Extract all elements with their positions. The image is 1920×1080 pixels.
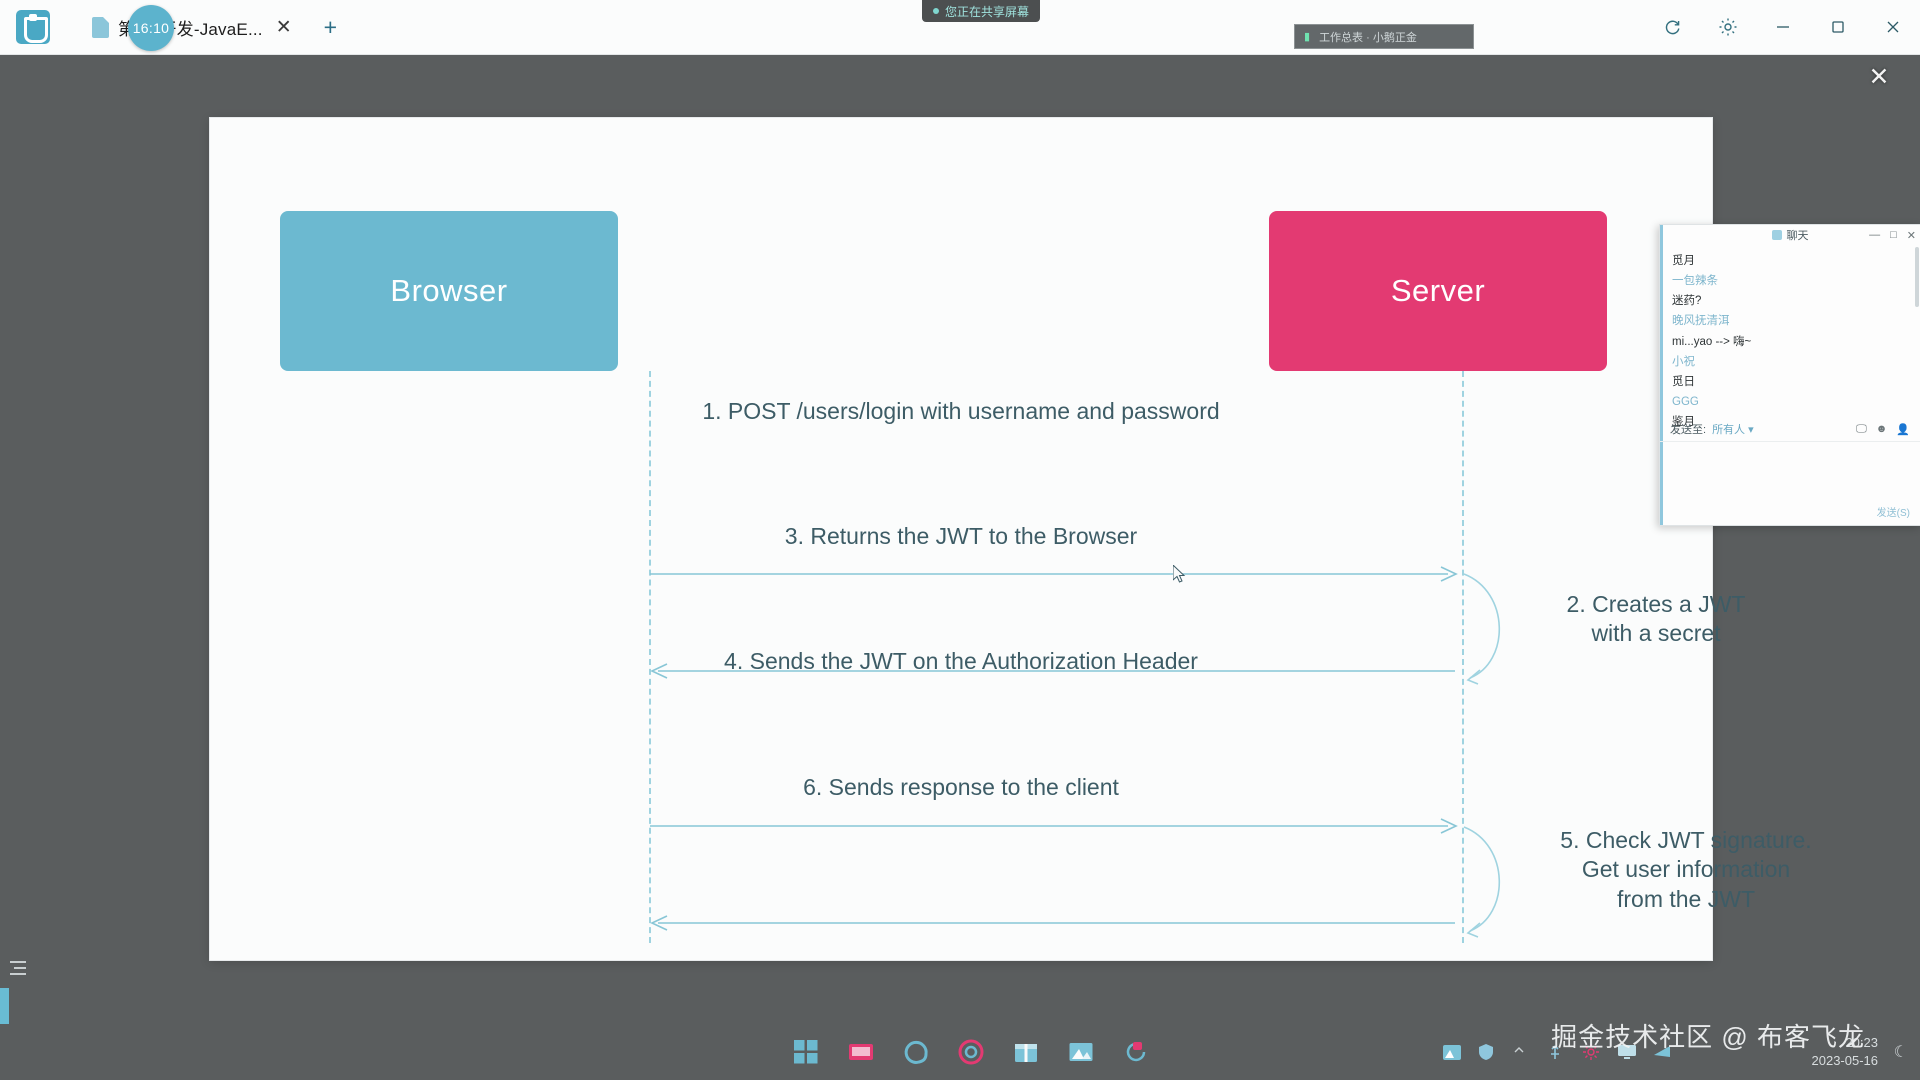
chat-message-list: 觅月 一包辣条 迷药? 晚风抚清洱 mi...yao --> 嗨~ 小祝 觅日 … bbox=[1660, 245, 1920, 432]
clock-time: 20:23 bbox=[1812, 1034, 1879, 1052]
message-arrow-4 bbox=[650, 818, 1463, 834]
chat-send-button[interactable]: 发送(S) bbox=[1877, 504, 1910, 519]
tab-close-icon[interactable]: ✕ bbox=[276, 18, 292, 37]
gear-icon[interactable] bbox=[1700, 0, 1755, 55]
node-label-server: Server bbox=[1391, 273, 1485, 309]
maximize-button[interactable] bbox=[1810, 0, 1865, 55]
self-call-arc-2 bbox=[1462, 570, 1542, 688]
sequence-node-server: Server bbox=[1269, 211, 1607, 371]
hover-tooltip: ▮ 工作总表 · 小鹅正金 bbox=[1294, 24, 1474, 49]
send-to-dropdown[interactable]: 所有人 ▾ bbox=[1712, 421, 1754, 437]
chat-window-controls: — □ ✕ bbox=[1869, 225, 1916, 245]
security-icon[interactable] bbox=[1477, 1043, 1495, 1061]
refresh-icon[interactable] bbox=[1645, 0, 1700, 55]
shared-slide-canvas: Browser Server 1. POST /users/login with… bbox=[210, 118, 1712, 960]
close-button[interactable] bbox=[1865, 0, 1920, 55]
taskbar-clock[interactable]: 20:23 2023-05-16 bbox=[1812, 1034, 1879, 1069]
chat-window[interactable]: 聊天 — □ ✕ 觅月 一包辣条 迷药? 晚风抚清洱 mi...yao --> … bbox=[1659, 224, 1920, 526]
screen-sharing-banner: 您正在共享屏幕 bbox=[922, 0, 1040, 22]
taskbar-tray bbox=[1442, 1043, 1670, 1061]
self-note-5: 5. Check JWT signature. Get user informa… bbox=[1536, 826, 1836, 914]
chat-send-to-row: 发送至: 所有人 ▾ 🖵 ☻ 👤 bbox=[1660, 421, 1920, 437]
screen: 第40 开发-JavaE... ✕ + bbox=[0, 0, 1920, 1080]
photos-icon[interactable] bbox=[1068, 1039, 1094, 1065]
settings-icon[interactable] bbox=[1582, 1043, 1600, 1061]
chat-title-bar: 聊天 — □ ✕ bbox=[1660, 225, 1920, 245]
chat-minimize-button[interactable]: — bbox=[1869, 229, 1880, 241]
sequence-node-browser: Browser bbox=[280, 211, 618, 371]
mouse-cursor-icon bbox=[1173, 565, 1187, 585]
self-note-5-line-3: from the JWT bbox=[1536, 885, 1836, 914]
send-to-label: 发送至: bbox=[1670, 421, 1706, 437]
taskbar-apps bbox=[793, 1039, 1149, 1065]
meeting-timer-badge[interactable]: 16:10 bbox=[128, 5, 174, 51]
store-icon[interactable] bbox=[1013, 1039, 1039, 1065]
message-label-6: 6. Sends response to the client bbox=[210, 774, 1712, 801]
chat-message: 晚风抚清洱 bbox=[1672, 311, 1908, 331]
edge-icon[interactable] bbox=[903, 1039, 929, 1065]
self-note-5-line-1: 5. Check JWT signature. bbox=[1536, 826, 1836, 855]
message-label-3: 3. Returns the JWT to the Browser bbox=[210, 523, 1712, 550]
floating-close-icon[interactable]: ✕ bbox=[1862, 60, 1896, 94]
chat-toolbar: 🖵 ☻ 👤 bbox=[1856, 423, 1910, 436]
network-icon[interactable] bbox=[1652, 1043, 1670, 1061]
side-menu-icon[interactable] bbox=[8, 955, 32, 981]
chat-message: 一包辣条 bbox=[1672, 271, 1908, 291]
chat-maximize-button[interactable]: □ bbox=[1890, 229, 1897, 241]
chat-close-button[interactable]: ✕ bbox=[1907, 229, 1916, 242]
sharing-indicator-icon bbox=[933, 8, 939, 14]
chat-icon bbox=[1772, 230, 1782, 240]
chat-scrollbar[interactable] bbox=[1915, 247, 1919, 307]
tooltip-marker-icon: ▮ bbox=[1304, 30, 1310, 43]
self-note-2: 2. Creates a JWT with a secret bbox=[1536, 590, 1776, 649]
taskbar: 20:23 2023-05-16 ☾ bbox=[0, 1024, 1920, 1080]
chrome-icon[interactable] bbox=[958, 1039, 984, 1065]
message-arrow-6 bbox=[650, 915, 1463, 931]
notification-icon[interactable]: ☾ bbox=[1894, 1042, 1908, 1062]
usb-icon[interactable] bbox=[1547, 1043, 1565, 1061]
chat-message: 迷药? bbox=[1672, 291, 1908, 311]
tab-strip: 第40 开发-JavaE... ✕ + bbox=[80, 0, 337, 54]
tooltip-text: 工作总表 · 小鹅正金 bbox=[1319, 29, 1417, 45]
screenshot-icon[interactable]: 🖵 bbox=[1856, 423, 1867, 436]
weather-icon[interactable] bbox=[1442, 1043, 1460, 1061]
chat-title-label: 聊天 bbox=[1787, 227, 1809, 243]
new-tab-icon[interactable]: + bbox=[324, 16, 337, 39]
chat-message: GGG bbox=[1672, 392, 1908, 412]
message-label-1: 1. POST /users/login with username and p… bbox=[210, 398, 1712, 425]
self-call-arc-5 bbox=[1462, 823, 1542, 941]
chat-message: 觅日 bbox=[1672, 372, 1908, 392]
meeting-logo-icon bbox=[16, 10, 50, 44]
chat-message: 小祝 bbox=[1672, 352, 1908, 372]
minimize-button[interactable] bbox=[1755, 0, 1810, 55]
self-note-2-line-1: 2. Creates a JWT bbox=[1536, 590, 1776, 619]
message-arrow-1 bbox=[650, 566, 1463, 582]
chat-message: mi...yao --> 嗨~ bbox=[1672, 332, 1908, 352]
display-icon[interactable] bbox=[1617, 1043, 1635, 1061]
chat-message: 觅月 bbox=[1672, 251, 1908, 271]
node-label-browser: Browser bbox=[390, 273, 507, 309]
document-icon bbox=[92, 17, 109, 38]
tab-document[interactable]: 第40 开发-JavaE... ✕ bbox=[80, 7, 302, 47]
self-note-2-line-2: with a secret bbox=[1536, 619, 1776, 648]
meeting-icon[interactable] bbox=[1123, 1039, 1149, 1065]
arrow-up-icon[interactable] bbox=[1512, 1043, 1530, 1061]
gallery-icon[interactable] bbox=[848, 1039, 874, 1065]
emoji-icon[interactable]: ☻ bbox=[1876, 423, 1888, 436]
person-icon[interactable]: 👤 bbox=[1896, 423, 1910, 436]
clock-date: 2023-05-16 bbox=[1812, 1052, 1879, 1070]
windows-start-icon[interactable] bbox=[793, 1039, 819, 1065]
sharing-banner-text: 您正在共享屏幕 bbox=[945, 3, 1029, 20]
self-note-5-line-2: Get user information bbox=[1536, 855, 1836, 884]
window-controls bbox=[1645, 0, 1920, 54]
